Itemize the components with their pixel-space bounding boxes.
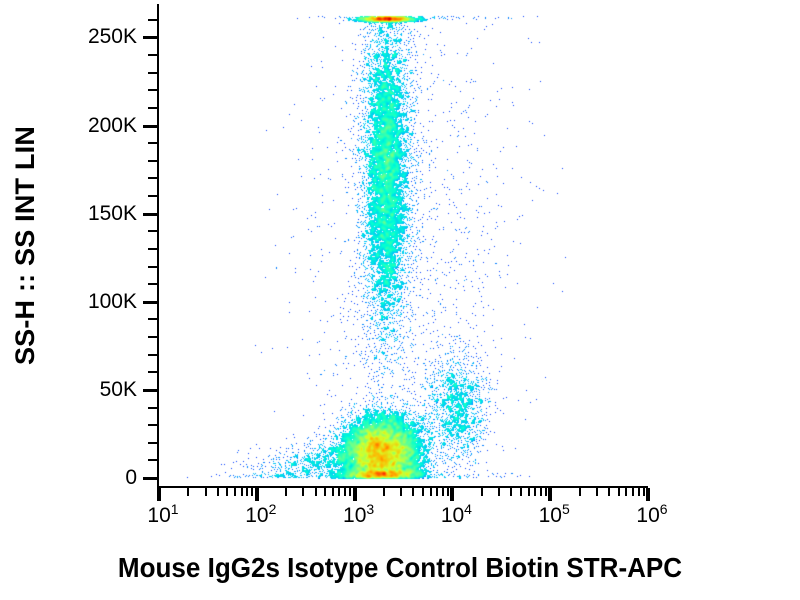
y-tick-minor — [148, 177, 157, 179]
x-tick-major — [157, 488, 161, 501]
x-tick-label: 105 — [539, 504, 570, 528]
y-tick-minor — [148, 248, 157, 250]
y-tick-minor — [148, 230, 157, 232]
y-tick-minor — [148, 160, 157, 162]
x-tick-minor — [422, 488, 424, 496]
y-tick-major — [143, 36, 157, 39]
x-tick-minor — [498, 488, 500, 496]
y-tick-minor — [148, 424, 157, 426]
x-tick-minor — [400, 488, 402, 496]
x-tick-minor — [217, 488, 219, 496]
y-tick-label: 150K — [88, 202, 137, 226]
x-tick-minor — [226, 488, 228, 496]
x-tick-minor — [324, 488, 326, 496]
y-tick-minor — [148, 459, 157, 461]
x-tick-minor — [447, 488, 449, 496]
x-tick-label: 103 — [343, 504, 374, 528]
x-tick-minor — [302, 488, 304, 496]
x-tick-minor — [643, 488, 645, 496]
x-tick-minor — [285, 488, 287, 496]
y-tick-minor — [148, 407, 157, 409]
y-tick-label: 250K — [88, 25, 137, 49]
y-tick-minor — [148, 318, 157, 320]
y-tick-minor — [148, 72, 157, 74]
x-tick-minor — [579, 488, 581, 496]
y-tick-major — [143, 213, 157, 216]
y-tick-minor — [148, 283, 157, 285]
x-tick-mantissa: 10 — [245, 504, 268, 527]
x-tick-major — [548, 488, 552, 501]
x-tick-exponent: 6 — [660, 501, 668, 517]
y-tick-label: 50K — [100, 378, 137, 402]
x-tick-major — [646, 488, 650, 501]
scatter-canvas — [159, 4, 648, 486]
x-tick-minor — [540, 488, 542, 496]
flow-cytometry-plot: SS-H :: SS INT LIN 050K100K150K200K250K … — [0, 0, 800, 600]
y-tick-minor — [148, 371, 157, 373]
x-tick-mantissa: 10 — [441, 504, 464, 527]
x-tick-label: 106 — [636, 504, 667, 528]
x-tick-mantissa: 10 — [147, 504, 170, 527]
y-tick-label: 100K — [88, 290, 137, 314]
y-tick-major — [143, 477, 157, 480]
y-tick-major — [143, 301, 157, 304]
y-tick-minor — [148, 89, 157, 91]
x-tick-minor — [430, 488, 432, 496]
x-tick-mantissa: 10 — [539, 504, 562, 527]
x-axis-title: Mouse IgG2s Isotype Control Biotin STR-A… — [28, 552, 772, 584]
y-tick-minor — [148, 442, 157, 444]
x-tick-minor — [625, 488, 627, 496]
x-tick-minor — [436, 488, 438, 496]
y-tick-minor — [148, 336, 157, 338]
x-tick-minor — [349, 488, 351, 496]
x-tick-mantissa: 10 — [636, 504, 659, 527]
plot-area — [157, 4, 648, 488]
x-tick-minor — [234, 488, 236, 496]
x-tick-minor — [251, 488, 253, 496]
x-tick-label: 102 — [245, 504, 276, 528]
x-tick-minor — [412, 488, 414, 496]
x-tick-label: 104 — [441, 504, 472, 528]
x-tick-exponent: 4 — [464, 501, 472, 517]
x-tick-minor — [510, 488, 512, 496]
x-tick-major — [353, 488, 357, 501]
y-tick-minor — [148, 19, 157, 21]
x-tick-minor — [528, 488, 530, 496]
x-tick-mantissa: 10 — [343, 504, 366, 527]
x-tick-minor — [638, 488, 640, 496]
y-tick-minor — [148, 142, 157, 144]
x-tick-minor — [205, 488, 207, 496]
x-tick-minor — [442, 488, 444, 496]
x-tick-minor — [608, 488, 610, 496]
x-tick-minor — [246, 488, 248, 496]
x-tick-minor — [383, 488, 385, 496]
x-tick-minor — [338, 488, 340, 496]
y-tick-minor — [148, 195, 157, 197]
x-tick-minor — [534, 488, 536, 496]
x-tick-minor — [187, 488, 189, 496]
x-tick-minor — [545, 488, 547, 496]
x-tick-minor — [344, 488, 346, 496]
x-tick-minor — [241, 488, 243, 496]
x-tick-minor — [520, 488, 522, 496]
x-tick-minor — [618, 488, 620, 496]
x-tick-label: 101 — [147, 504, 178, 528]
x-tick-minor — [332, 488, 334, 496]
x-tick-major — [450, 488, 454, 501]
y-tick-label: 200K — [88, 114, 137, 138]
x-tick-major — [255, 488, 259, 501]
y-tick-major — [143, 389, 157, 392]
x-tick-exponent: 1 — [171, 501, 179, 517]
x-tick-minor — [632, 488, 634, 496]
x-tick-minor — [315, 488, 317, 496]
y-tick-minor — [148, 354, 157, 356]
y-tick-minor — [148, 54, 157, 56]
x-tick-exponent: 3 — [366, 501, 374, 517]
y-tick-minor — [148, 266, 157, 268]
y-tick-minor — [148, 107, 157, 109]
x-tick-minor — [481, 488, 483, 496]
x-tick-exponent: 2 — [269, 501, 277, 517]
y-tick-label: 0 — [125, 466, 137, 490]
x-tick-exponent: 5 — [562, 501, 570, 517]
y-tick-major — [143, 125, 157, 128]
x-tick-minor — [596, 488, 598, 496]
